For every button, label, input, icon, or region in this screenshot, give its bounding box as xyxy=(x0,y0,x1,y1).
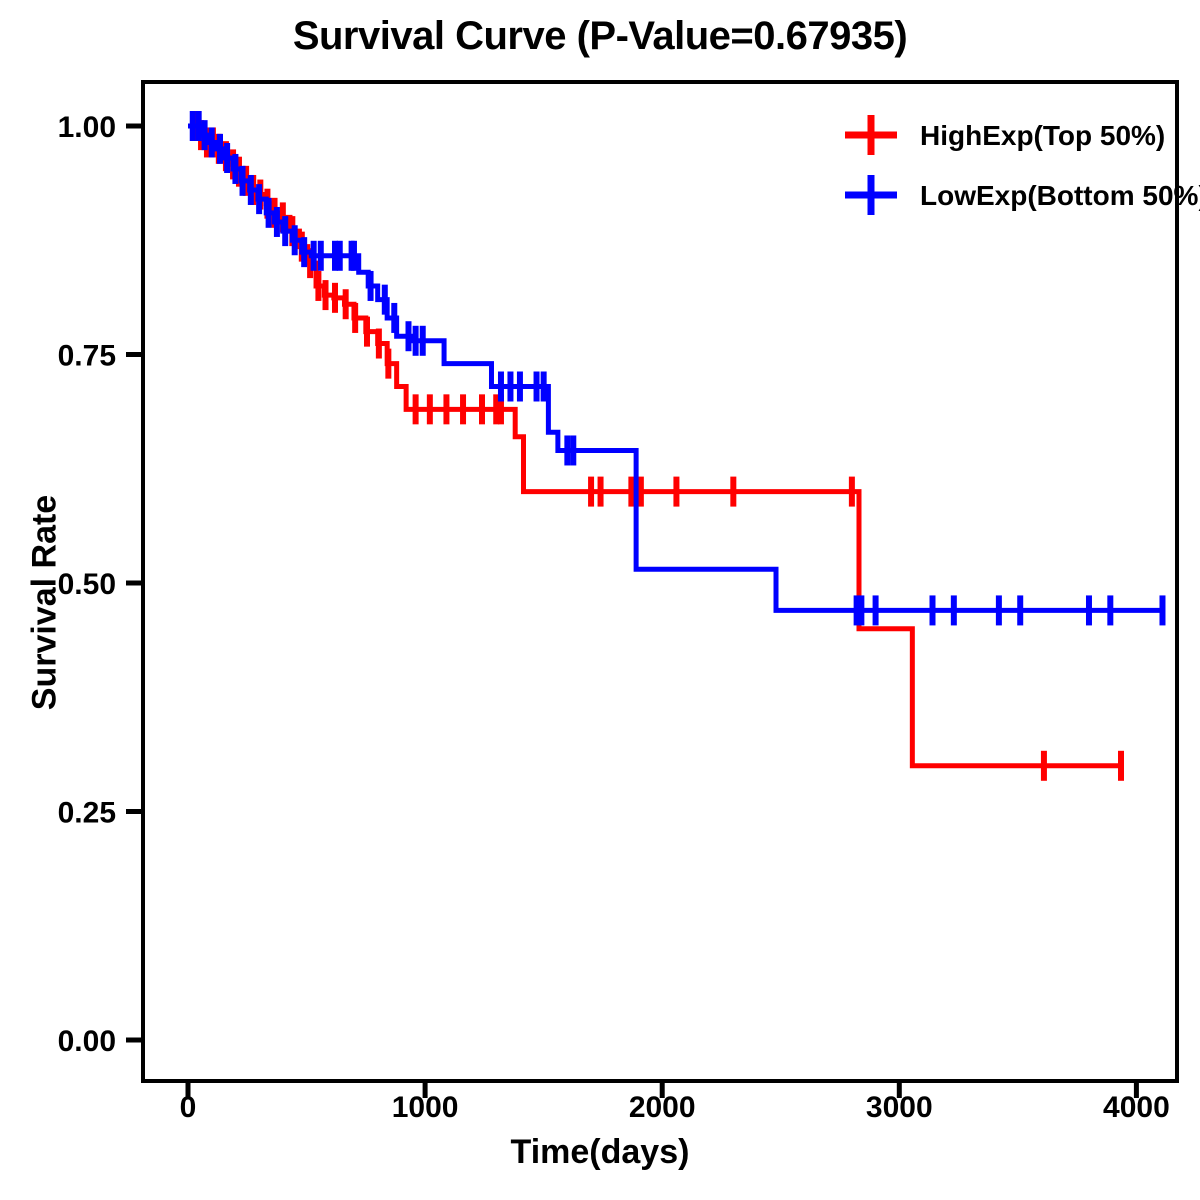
legend-label: LowExp(Bottom 50%) xyxy=(920,180,1200,211)
x-tick-label: 1000 xyxy=(392,1091,459,1124)
y-tick-label: 0.00 xyxy=(58,1025,116,1058)
legend-label: HighExp(Top 50%) xyxy=(920,120,1165,151)
y-tick-label: 0.50 xyxy=(58,568,116,601)
survival-plot: 01000200030004000 0.000.250.500.751.00 H… xyxy=(0,0,1200,1200)
y-tick-label: 1.00 xyxy=(58,111,116,144)
x-tick-label: 0 xyxy=(180,1091,197,1124)
x-tick-label: 3000 xyxy=(866,1091,933,1124)
x-tick-label: 4000 xyxy=(1103,1091,1170,1124)
chart-page: Survival Curve (P-Value=0.67935) Surviva… xyxy=(0,0,1200,1200)
y-tick-label: 0.25 xyxy=(58,797,116,830)
x-tick-label: 2000 xyxy=(629,1091,696,1124)
y-axis-ticks: 0.000.250.500.751.00 xyxy=(58,111,143,1058)
x-axis-ticks: 01000200030004000 xyxy=(180,1081,1170,1124)
y-tick-label: 0.75 xyxy=(58,340,116,373)
